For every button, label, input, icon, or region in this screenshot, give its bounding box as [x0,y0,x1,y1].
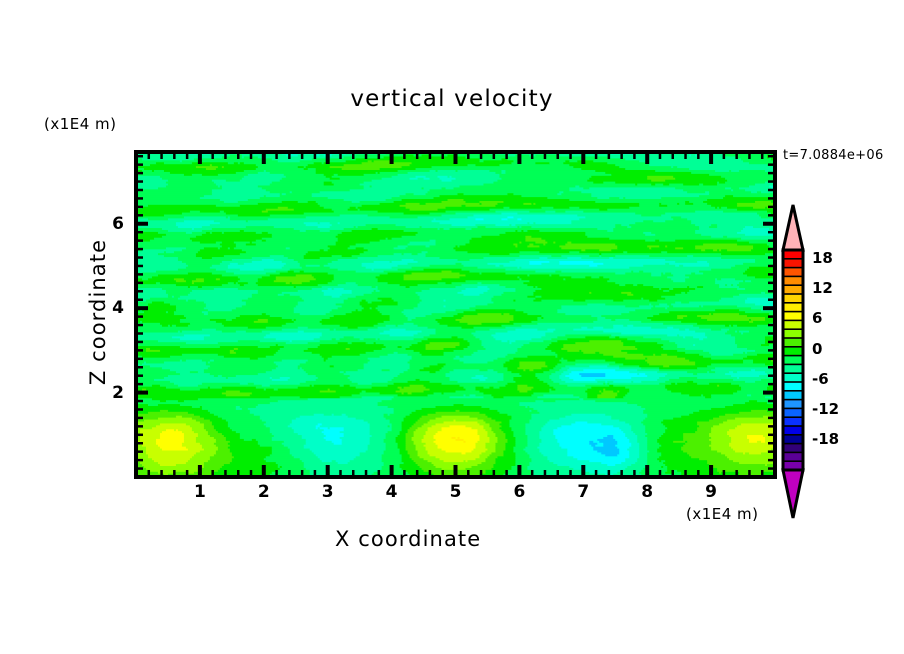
y-tick-label: 2 [98,383,124,403]
y-unit-label: (x1E4 m) [44,115,117,133]
x-tick-label: 5 [450,482,462,502]
contour-field [136,152,776,478]
time-annotation: t=7.0884e+06 [783,148,884,163]
colorbar-tick-label: 18 [812,249,833,267]
x-tick-label: 3 [322,482,334,502]
x-unit-label: (x1E4 m) [686,505,759,523]
x-tick-label: 8 [641,482,653,502]
colorbar-tick-label: 12 [812,279,833,297]
page-title: vertical velocity [0,86,904,112]
colorbar-tick-label: 0 [812,340,822,358]
x-tick-label: 4 [386,482,398,502]
y-tick-label: 4 [98,298,124,318]
x-tick-label: 7 [577,482,589,502]
x-tick-label: 1 [194,482,206,502]
colorbar-tick-label: -6 [812,370,829,388]
y-tick-label: 6 [98,214,124,234]
colorbar-tick-label: -12 [812,400,839,418]
x-tick-label: 6 [513,482,525,502]
x-tick-label: 9 [705,482,717,502]
x-tick-label: 2 [258,482,270,502]
colorbar-tick-label: 6 [812,309,822,327]
colorbar-tick-label: -18 [812,430,839,448]
colorbar [783,205,803,518]
figure-canvas: vertical velocity (x1E4 m) (x1E4 m) t=7.… [0,0,904,654]
x-axis-title: X coordinate [335,527,481,551]
